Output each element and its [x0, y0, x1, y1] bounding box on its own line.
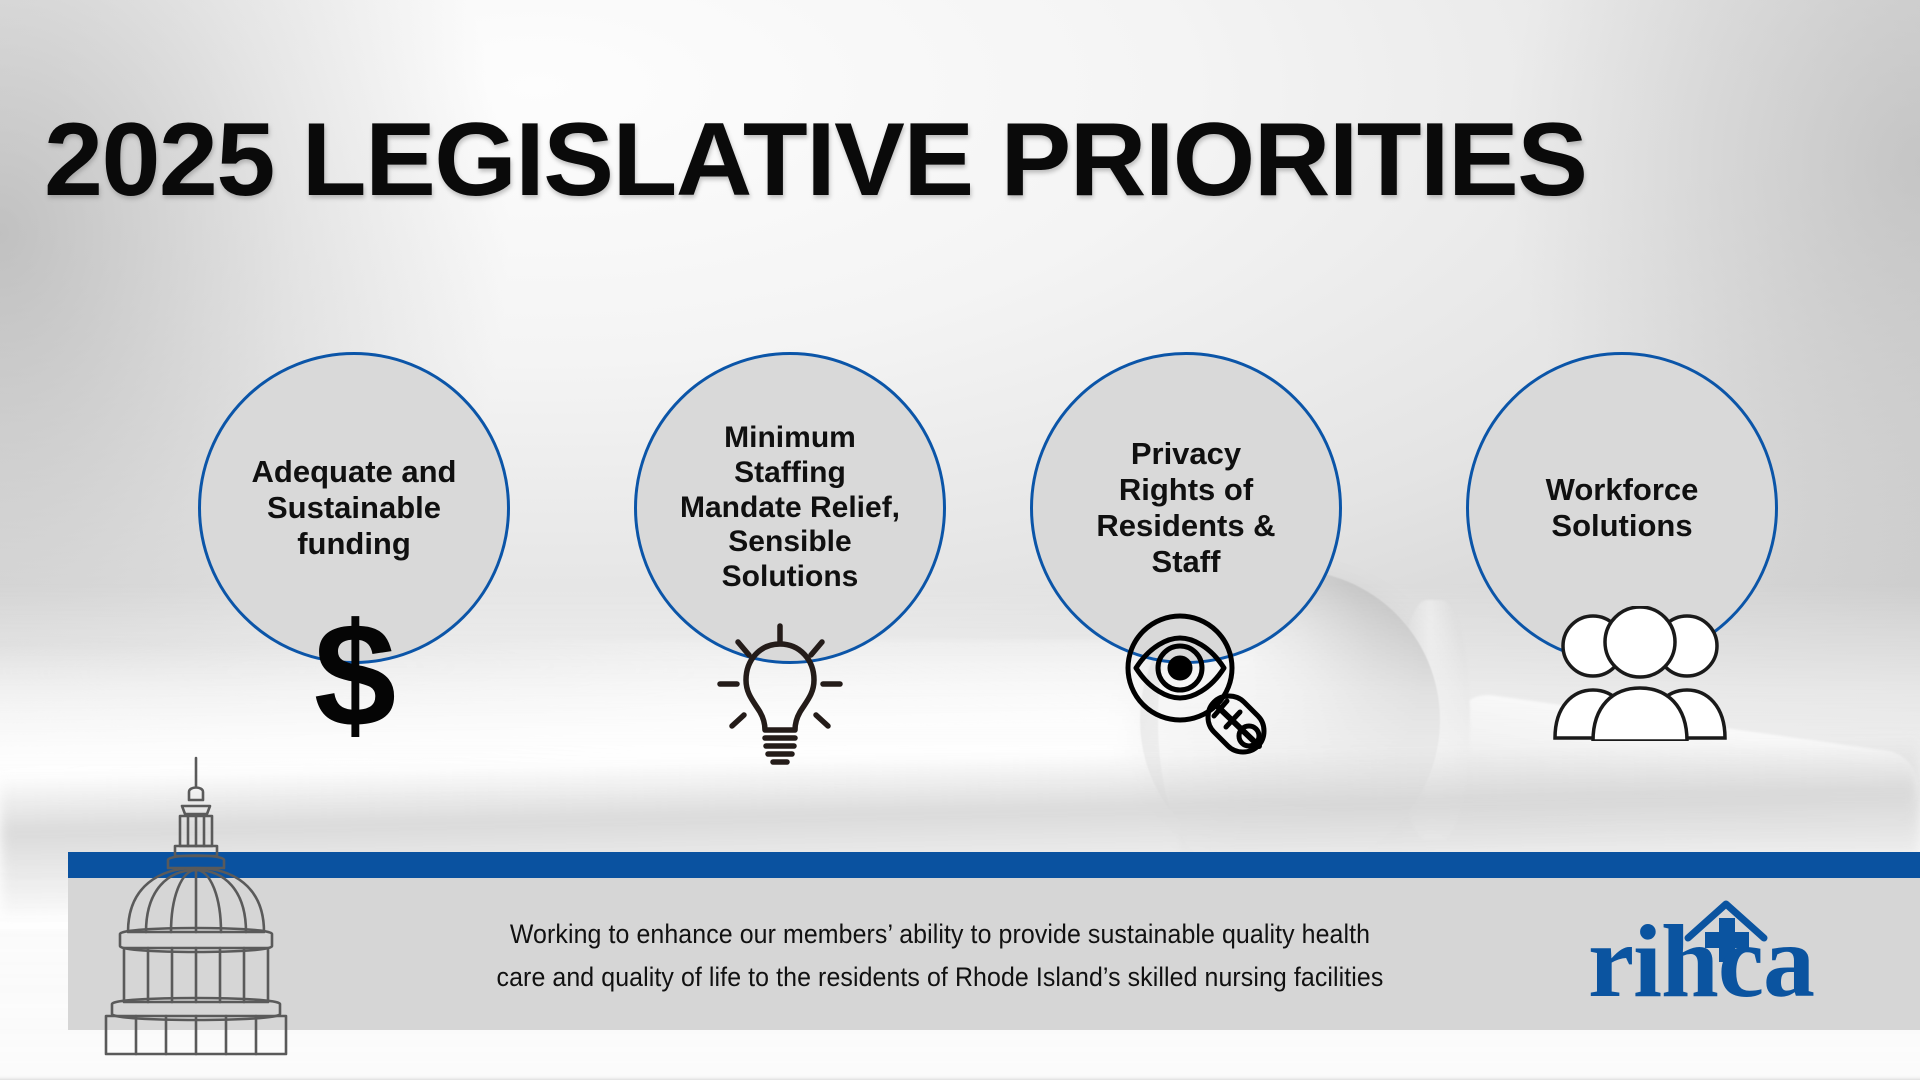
page-title: 2025 LEGISLATIVE PRIORITIES: [44, 108, 1920, 212]
tagline: Working to enhance our members’ ability …: [367, 898, 1514, 1013]
priority-label-workforce: Workforce Solutions: [1532, 472, 1713, 544]
capitol-dome-icon: [76, 756, 316, 1056]
dollar-sign-icon: $: [300, 608, 410, 738]
lightbulb-icon: [710, 622, 850, 770]
eye-magnifier-icon: [1118, 612, 1278, 757]
rihca-logo[interactable]: rihca: [1576, 888, 1876, 1020]
tagline-line-2: care and quality of life to the resident…: [497, 956, 1384, 999]
priority-label-privacy: Privacy Rights of Residents & Staff: [1082, 436, 1289, 580]
rihca-logo-text: rihca: [1588, 902, 1814, 1021]
priority-label-staffing: Minimum Staffing Mandate Relief, Sensibl…: [666, 421, 914, 595]
blue-divider-bar: [68, 852, 1920, 878]
priority-circle-staffing[interactable]: Minimum Staffing Mandate Relief, Sensibl…: [634, 352, 946, 664]
priority-label-funding: Adequate and Sustainable funding: [238, 454, 471, 562]
people-group-icon: [1545, 606, 1735, 741]
tagline-line-1: Working to enhance our members’ ability …: [510, 913, 1370, 956]
